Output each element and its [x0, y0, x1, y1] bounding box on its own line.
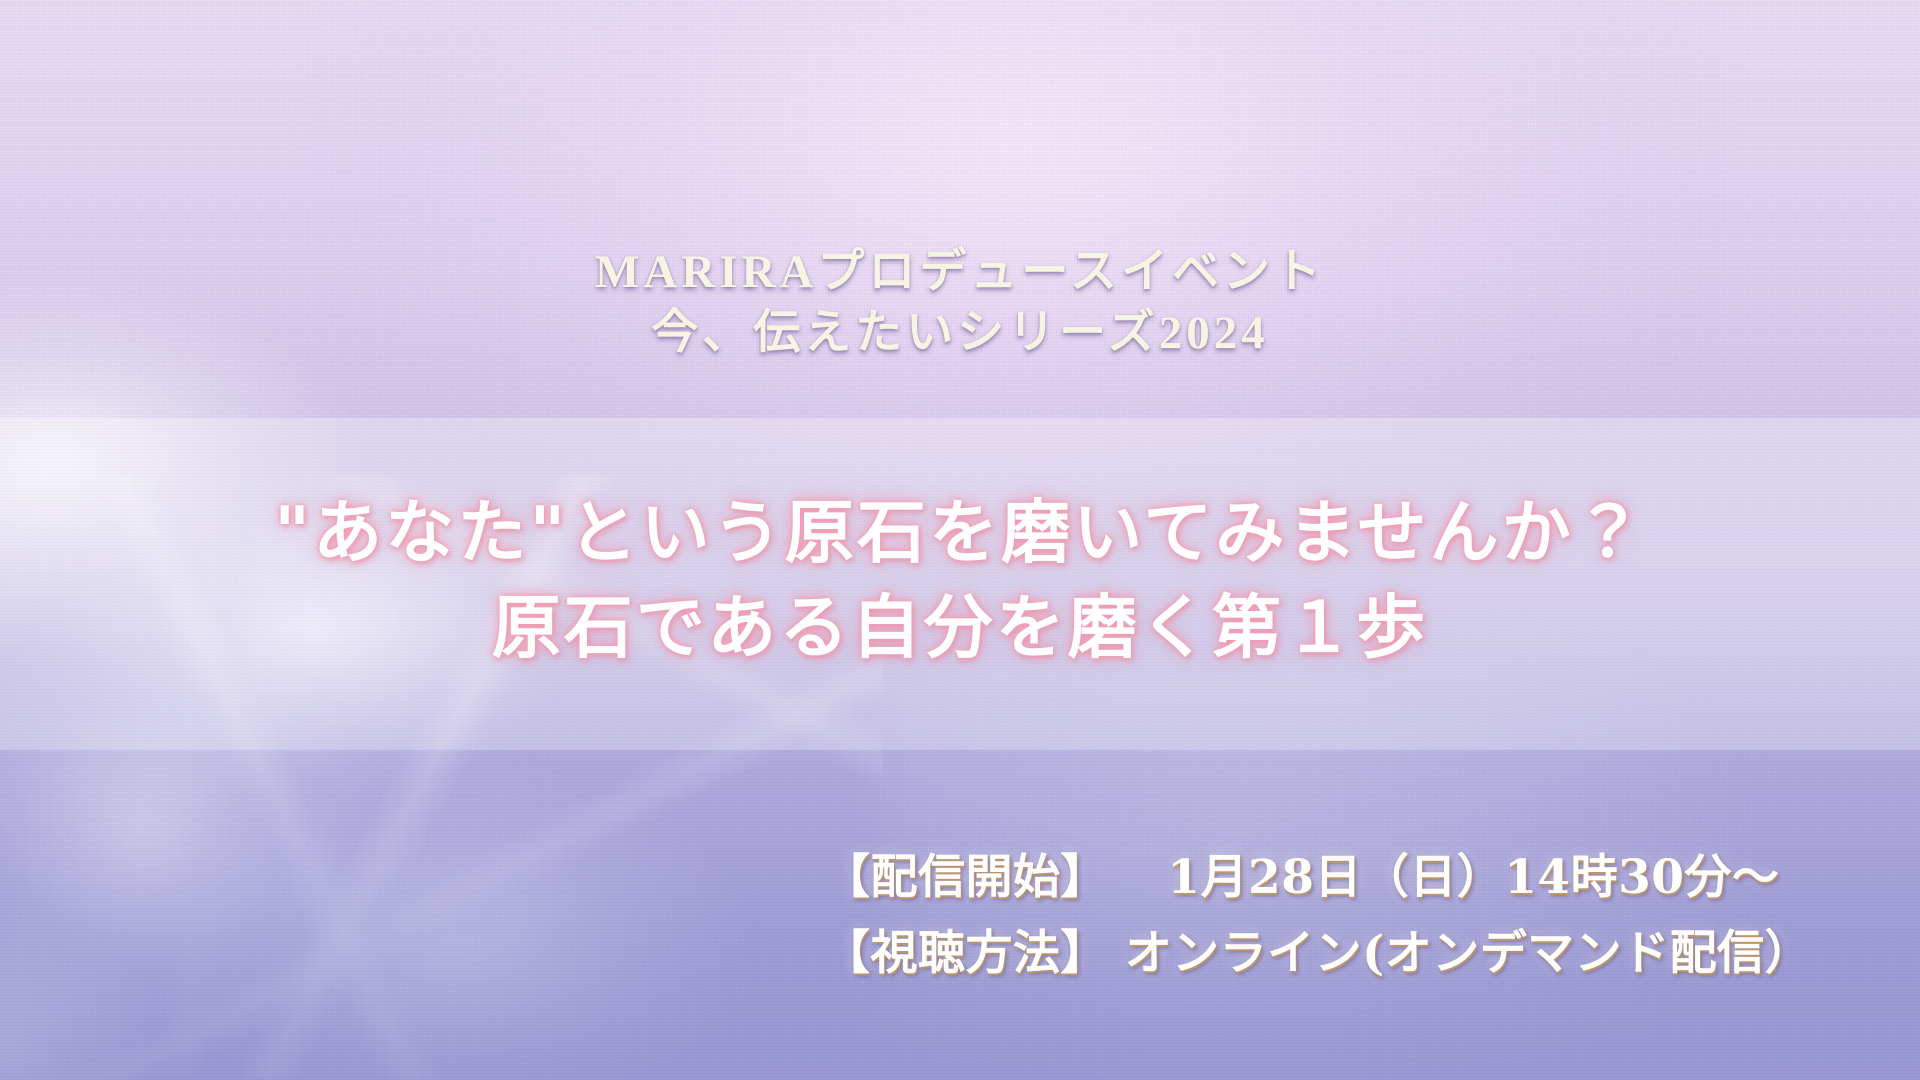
event-title: MARIRAプロデュースイベント 今、伝えたいシリーズ2024 [0, 242, 1920, 364]
broadcast-info: 【配信開始】 1月28日（日）14時30分〜 【視聴方法】 オンライン(オンデマ… [823, 840, 1812, 992]
viewing-method-value: オンライン(オンデマンド配信） [1125, 926, 1812, 981]
broadcast-start-value: 1月28日（日）14時30分〜 [1167, 850, 1779, 905]
viewing-method-label: 【視聴方法】 [823, 926, 1108, 981]
event-banner: MARIRAプロデュースイベント 今、伝えたいシリーズ2024 "あなた"という… [0, 0, 1920, 1080]
headline-line-1: "あなた"という原石を磨いてみませんか？ [0, 486, 1920, 581]
headline-line-2: 原石である自分を磨く第１歩 [0, 581, 1920, 676]
viewing-method-line: 【視聴方法】 オンライン(オンデマンド配信） [823, 916, 1812, 992]
event-title-line-1: MARIRAプロデュースイベント [0, 242, 1920, 303]
broadcast-start-label: 【配信開始】 [823, 850, 1108, 905]
broadcast-start-line: 【配信開始】 1月28日（日）14時30分〜 [823, 840, 1812, 916]
event-title-line-2: 今、伝えたいシリーズ2024 [0, 303, 1920, 364]
headline: "あなた"という原石を磨いてみませんか？ 原石である自分を磨く第１歩 [0, 486, 1920, 675]
banner-content: MARIRAプロデュースイベント 今、伝えたいシリーズ2024 "あなた"という… [0, 0, 1920, 1080]
